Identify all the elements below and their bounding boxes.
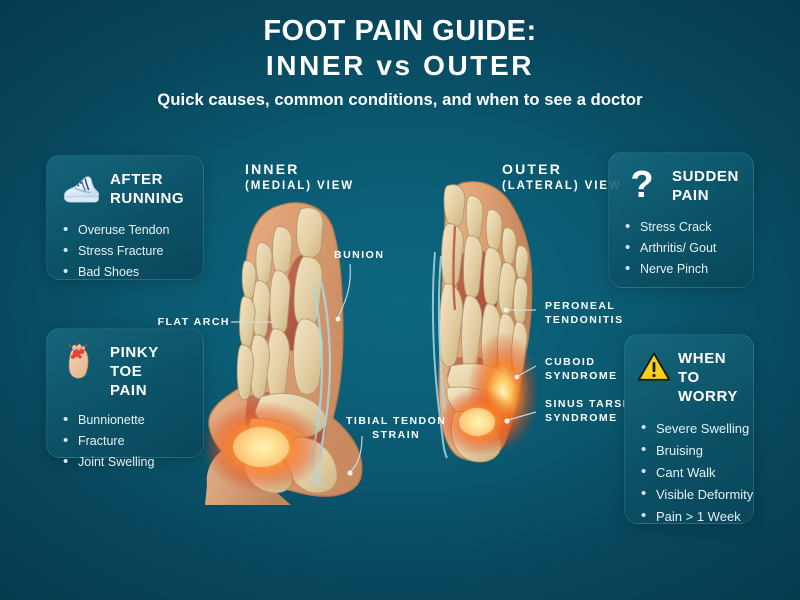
warning-triangle-icon (637, 350, 671, 384)
card-when-to-worry-list: Severe Swelling Bruising Cant Walk Visib… (637, 418, 739, 528)
card-after-running-title: AFTER RUNNING (110, 168, 184, 208)
inner-view-label-line1: INNER (245, 161, 354, 178)
annotation-cuboid-line1: CUBOID (545, 355, 618, 369)
annotation-bunion-line1: BUNION (334, 248, 384, 262)
inflamed-foot-icon (59, 341, 101, 383)
annotation-peroneal-tendonitis: PERONEAL TENDONITIS (545, 299, 624, 327)
annotation-bunion: BUNION (334, 248, 384, 262)
card-when-to-worry-title: WHEN TO WORRY (678, 347, 739, 406)
annotation-tibial-line2: STRAIN (346, 428, 446, 442)
running-shoe-icon (59, 168, 101, 210)
annotation-sinus-tarsi-syndrome: SINUS TARSI SYNDROME (545, 397, 627, 425)
card-when-to-worry-title-line1: WHEN TO (678, 349, 739, 387)
card-pinky-toe-pain-title: PINKY TOE PAIN (110, 341, 189, 400)
card-after-running-title-line1: AFTER (110, 170, 184, 189)
outer-view-label-line1: OUTER (502, 161, 622, 178)
list-item: Bruising (637, 440, 739, 462)
header: FOOT PAIN GUIDE: INNER vs OUTER Quick ca… (0, 14, 800, 113)
page-title-line1: FOOT PAIN GUIDE: (0, 14, 800, 48)
outer-view-label: OUTER (LATERAL) VIEW (502, 161, 622, 194)
card-pinky-toe-pain-list: Bunnionette Fracture Joint Swelling (59, 410, 189, 473)
annotation-peroneal-line1: PERONEAL (545, 299, 624, 313)
card-pinky-toe-pain-title-line1: PINKY TOE (110, 343, 189, 381)
list-item: Joint Swelling (59, 452, 189, 473)
card-when-to-worry-header: WHEN TO WORRY (637, 347, 739, 406)
annotation-sinus-tarsi-line1: SINUS TARSI (545, 397, 627, 411)
card-when-to-worry[interactable]: WHEN TO WORRY Severe Swelling Bruising C… (624, 334, 754, 524)
annotation-flat-arch: FLAT ARCH (148, 315, 230, 329)
card-pinky-toe-pain-header: PINKY TOE PAIN (59, 341, 189, 400)
inner-foot-illustration (205, 185, 395, 505)
inner-view-label: INNER (MEDIAL) VIEW (245, 161, 354, 194)
card-after-running[interactable]: AFTER RUNNING Overuse Tendon Stress Frac… (46, 155, 204, 280)
list-item: Stress Fracture (59, 241, 189, 262)
card-sudden-pain-title: SUDDEN PAIN (672, 165, 739, 205)
annotation-cuboid-line2: SYNDROME (545, 369, 618, 383)
card-sudden-pain-header: ? SUDDEN PAIN (621, 165, 739, 207)
card-pinky-toe-pain[interactable]: PINKY TOE PAIN Bunnionette Fracture Join… (46, 328, 204, 458)
list-item: Overuse Tendon (59, 220, 189, 241)
list-item: Bad Shoes (59, 262, 189, 283)
outer-view-label-line2: (LATERAL) VIEW (502, 178, 622, 194)
annotation-tibial-line1: TIBIAL TENDON (346, 414, 446, 428)
card-sudden-pain-title-line1: SUDDEN (672, 167, 739, 186)
list-item: Nerve Pinch (621, 259, 739, 280)
list-item: Cant Walk (637, 462, 739, 484)
page-subtitle: Quick causes, common conditions, and whe… (0, 87, 800, 113)
infographic-canvas: FOOT PAIN GUIDE: INNER vs OUTER Quick ca… (0, 0, 800, 600)
list-item: Visible Deformity (637, 484, 739, 506)
annotation-sinus-tarsi-line2: SYNDROME (545, 411, 627, 425)
list-item: Severe Swelling (637, 418, 739, 440)
list-item: Arthritis/ Gout (621, 238, 739, 259)
annotation-cuboid-syndrome: CUBOID SYNDROME (545, 355, 618, 383)
list-item: Stress Crack (621, 217, 739, 238)
card-after-running-list: Overuse Tendon Stress Fracture Bad Shoes (59, 220, 189, 283)
card-pinky-toe-pain-title-line2: PAIN (110, 381, 189, 400)
inner-view-label-line2: (MEDIAL) VIEW (245, 178, 354, 194)
card-after-running-title-line2: RUNNING (110, 189, 184, 208)
card-after-running-header: AFTER RUNNING (59, 168, 189, 210)
annotation-peroneal-line2: TENDONITIS (545, 313, 624, 327)
card-sudden-pain-title-line2: PAIN (672, 186, 739, 205)
annotation-tibial-tendon-strain: TIBIAL TENDON STRAIN (346, 414, 446, 442)
list-item: Bunnionette (59, 410, 189, 431)
card-sudden-pain[interactable]: ? SUDDEN PAIN Stress Crack Arthritis/ Go… (608, 152, 754, 288)
list-item: Pain > 1 Week (637, 506, 739, 528)
question-mark-icon: ? (621, 165, 663, 207)
card-sudden-pain-list: Stress Crack Arthritis/ Gout Nerve Pinch (621, 217, 739, 280)
card-when-to-worry-title-line2: WORRY (678, 387, 739, 406)
list-item: Fracture (59, 431, 189, 452)
page-title-line2: INNER vs OUTER (0, 48, 800, 84)
annotation-flat-arch-line1: FLAT ARCH (148, 315, 230, 329)
